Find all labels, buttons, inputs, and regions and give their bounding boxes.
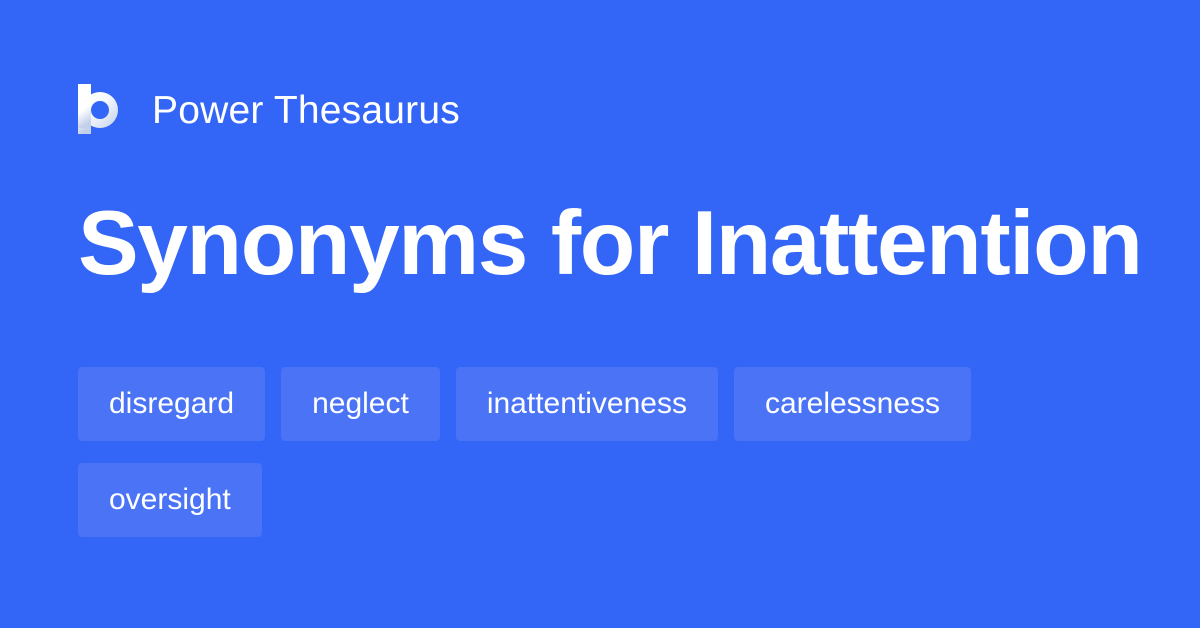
synonym-chip[interactable]: neglect	[281, 367, 440, 441]
synonym-chip-list: disregard neglect inattentiveness carele…	[78, 367, 1138, 537]
synonym-chip[interactable]: carelessness	[734, 367, 971, 441]
synonym-chip[interactable]: inattentiveness	[456, 367, 718, 441]
brand-name: Power Thesaurus	[152, 91, 460, 130]
brand-header[interactable]: Power Thesaurus	[78, 80, 460, 140]
page-title: Synonyms for Inattention	[78, 196, 1142, 292]
power-thesaurus-b-logo-icon	[78, 84, 126, 136]
share-card: Power Thesaurus Synonyms for Inattention…	[0, 0, 1200, 628]
synonym-chip[interactable]: oversight	[78, 463, 262, 537]
synonym-chip[interactable]: disregard	[78, 367, 265, 441]
